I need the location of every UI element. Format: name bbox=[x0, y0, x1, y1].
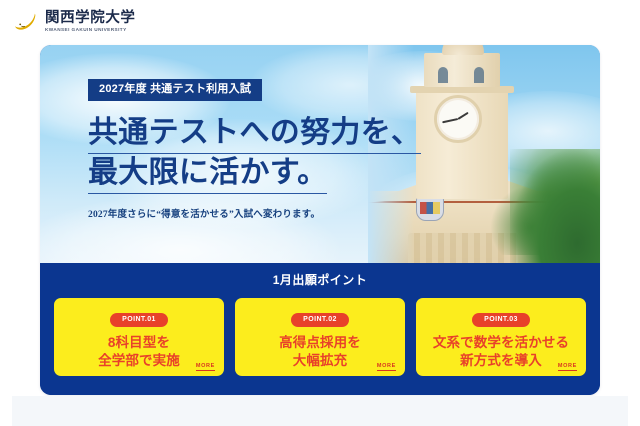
brand-logo-link[interactable]: 関西学院大学 KWANSEI GAKUIN UNIVERSITY bbox=[14, 10, 135, 34]
clock-face-icon bbox=[434, 95, 482, 143]
site-header: 関西学院大学 KWANSEI GAKUIN UNIVERSITY bbox=[0, 0, 640, 44]
points-section: 1月出願ポイント POINT.01 8科目型を 全学部で実施 MORE POIN… bbox=[40, 263, 600, 395]
crescent-moon-icon bbox=[14, 10, 38, 34]
hero-copy: 2027年度 共通テスト利用入試 共通テストへの努力を、 最大限に活かす。 20… bbox=[88, 79, 418, 220]
point-card-more-link[interactable]: MORE bbox=[558, 363, 577, 371]
brand-name-jp: 関西学院大学 bbox=[45, 11, 135, 26]
point-card-title-line-1: 高得点採用を bbox=[235, 334, 405, 352]
hero-headline: 共通テストへの努力を、 最大限に活かす。 bbox=[88, 114, 418, 194]
page-root: 関西学院大学 KWANSEI GAKUIN UNIVERSITY bbox=[0, 0, 640, 426]
point-card-03[interactable]: POINT.03 文系で数学を活かせる 新方式を導入 MORE bbox=[416, 298, 586, 376]
brand-name-en: KWANSEI GAKUIN UNIVERSITY bbox=[45, 28, 137, 33]
page-margin-right bbox=[628, 396, 640, 426]
tower-belfry bbox=[424, 53, 500, 87]
point-card-title-line-1: 文系で数学を活かせる bbox=[416, 334, 586, 352]
belfry-arch bbox=[438, 67, 448, 83]
hero-subtitle: 2027年度さらに“得意を活かせる”入試へ変わります。 bbox=[88, 206, 418, 220]
point-card-more-link[interactable]: MORE bbox=[377, 363, 396, 371]
hero-eyebrow-badge: 2027年度 共通テスト利用入試 bbox=[88, 79, 262, 101]
belfry-arch bbox=[474, 67, 484, 83]
point-badge: POINT.01 bbox=[110, 313, 168, 328]
point-card-more-link[interactable]: MORE bbox=[196, 363, 215, 371]
hero-headline-line-2: 最大限に活かす。 bbox=[88, 154, 327, 194]
hero-banner[interactable]: 2027年度 共通テスト利用入試 共通テストへの努力を、 最大限に活かす。 20… bbox=[40, 45, 600, 263]
point-badge: POINT.03 bbox=[472, 313, 530, 328]
hero-headline-line-1: 共通テストへの努力を、 bbox=[88, 114, 421, 154]
foliage-decoration bbox=[510, 149, 600, 263]
point-badge: POINT.02 bbox=[291, 313, 349, 328]
hero-panel: 2027年度 共通テスト利用入試 共通テストへの努力を、 最大限に活かす。 20… bbox=[40, 45, 600, 395]
point-card-title-line-1: 8科目型を bbox=[54, 334, 224, 352]
page-margin-left bbox=[0, 396, 12, 426]
university-crest bbox=[416, 197, 444, 221]
points-card-list: POINT.01 8科目型を 全学部で実施 MORE POINT.02 高得点採… bbox=[40, 286, 600, 376]
page-background-strip bbox=[0, 396, 640, 426]
tower-dome bbox=[442, 45, 484, 55]
point-card-01[interactable]: POINT.01 8科目型を 全学部で実施 MORE bbox=[54, 298, 224, 376]
brand-text: 関西学院大学 KWANSEI GAKUIN UNIVERSITY bbox=[45, 11, 135, 33]
tower-cornice bbox=[410, 86, 514, 93]
point-card-02[interactable]: POINT.02 高得点採用を 大幅拡充 MORE bbox=[235, 298, 405, 376]
points-section-title: 1月出願ポイント bbox=[40, 263, 600, 286]
